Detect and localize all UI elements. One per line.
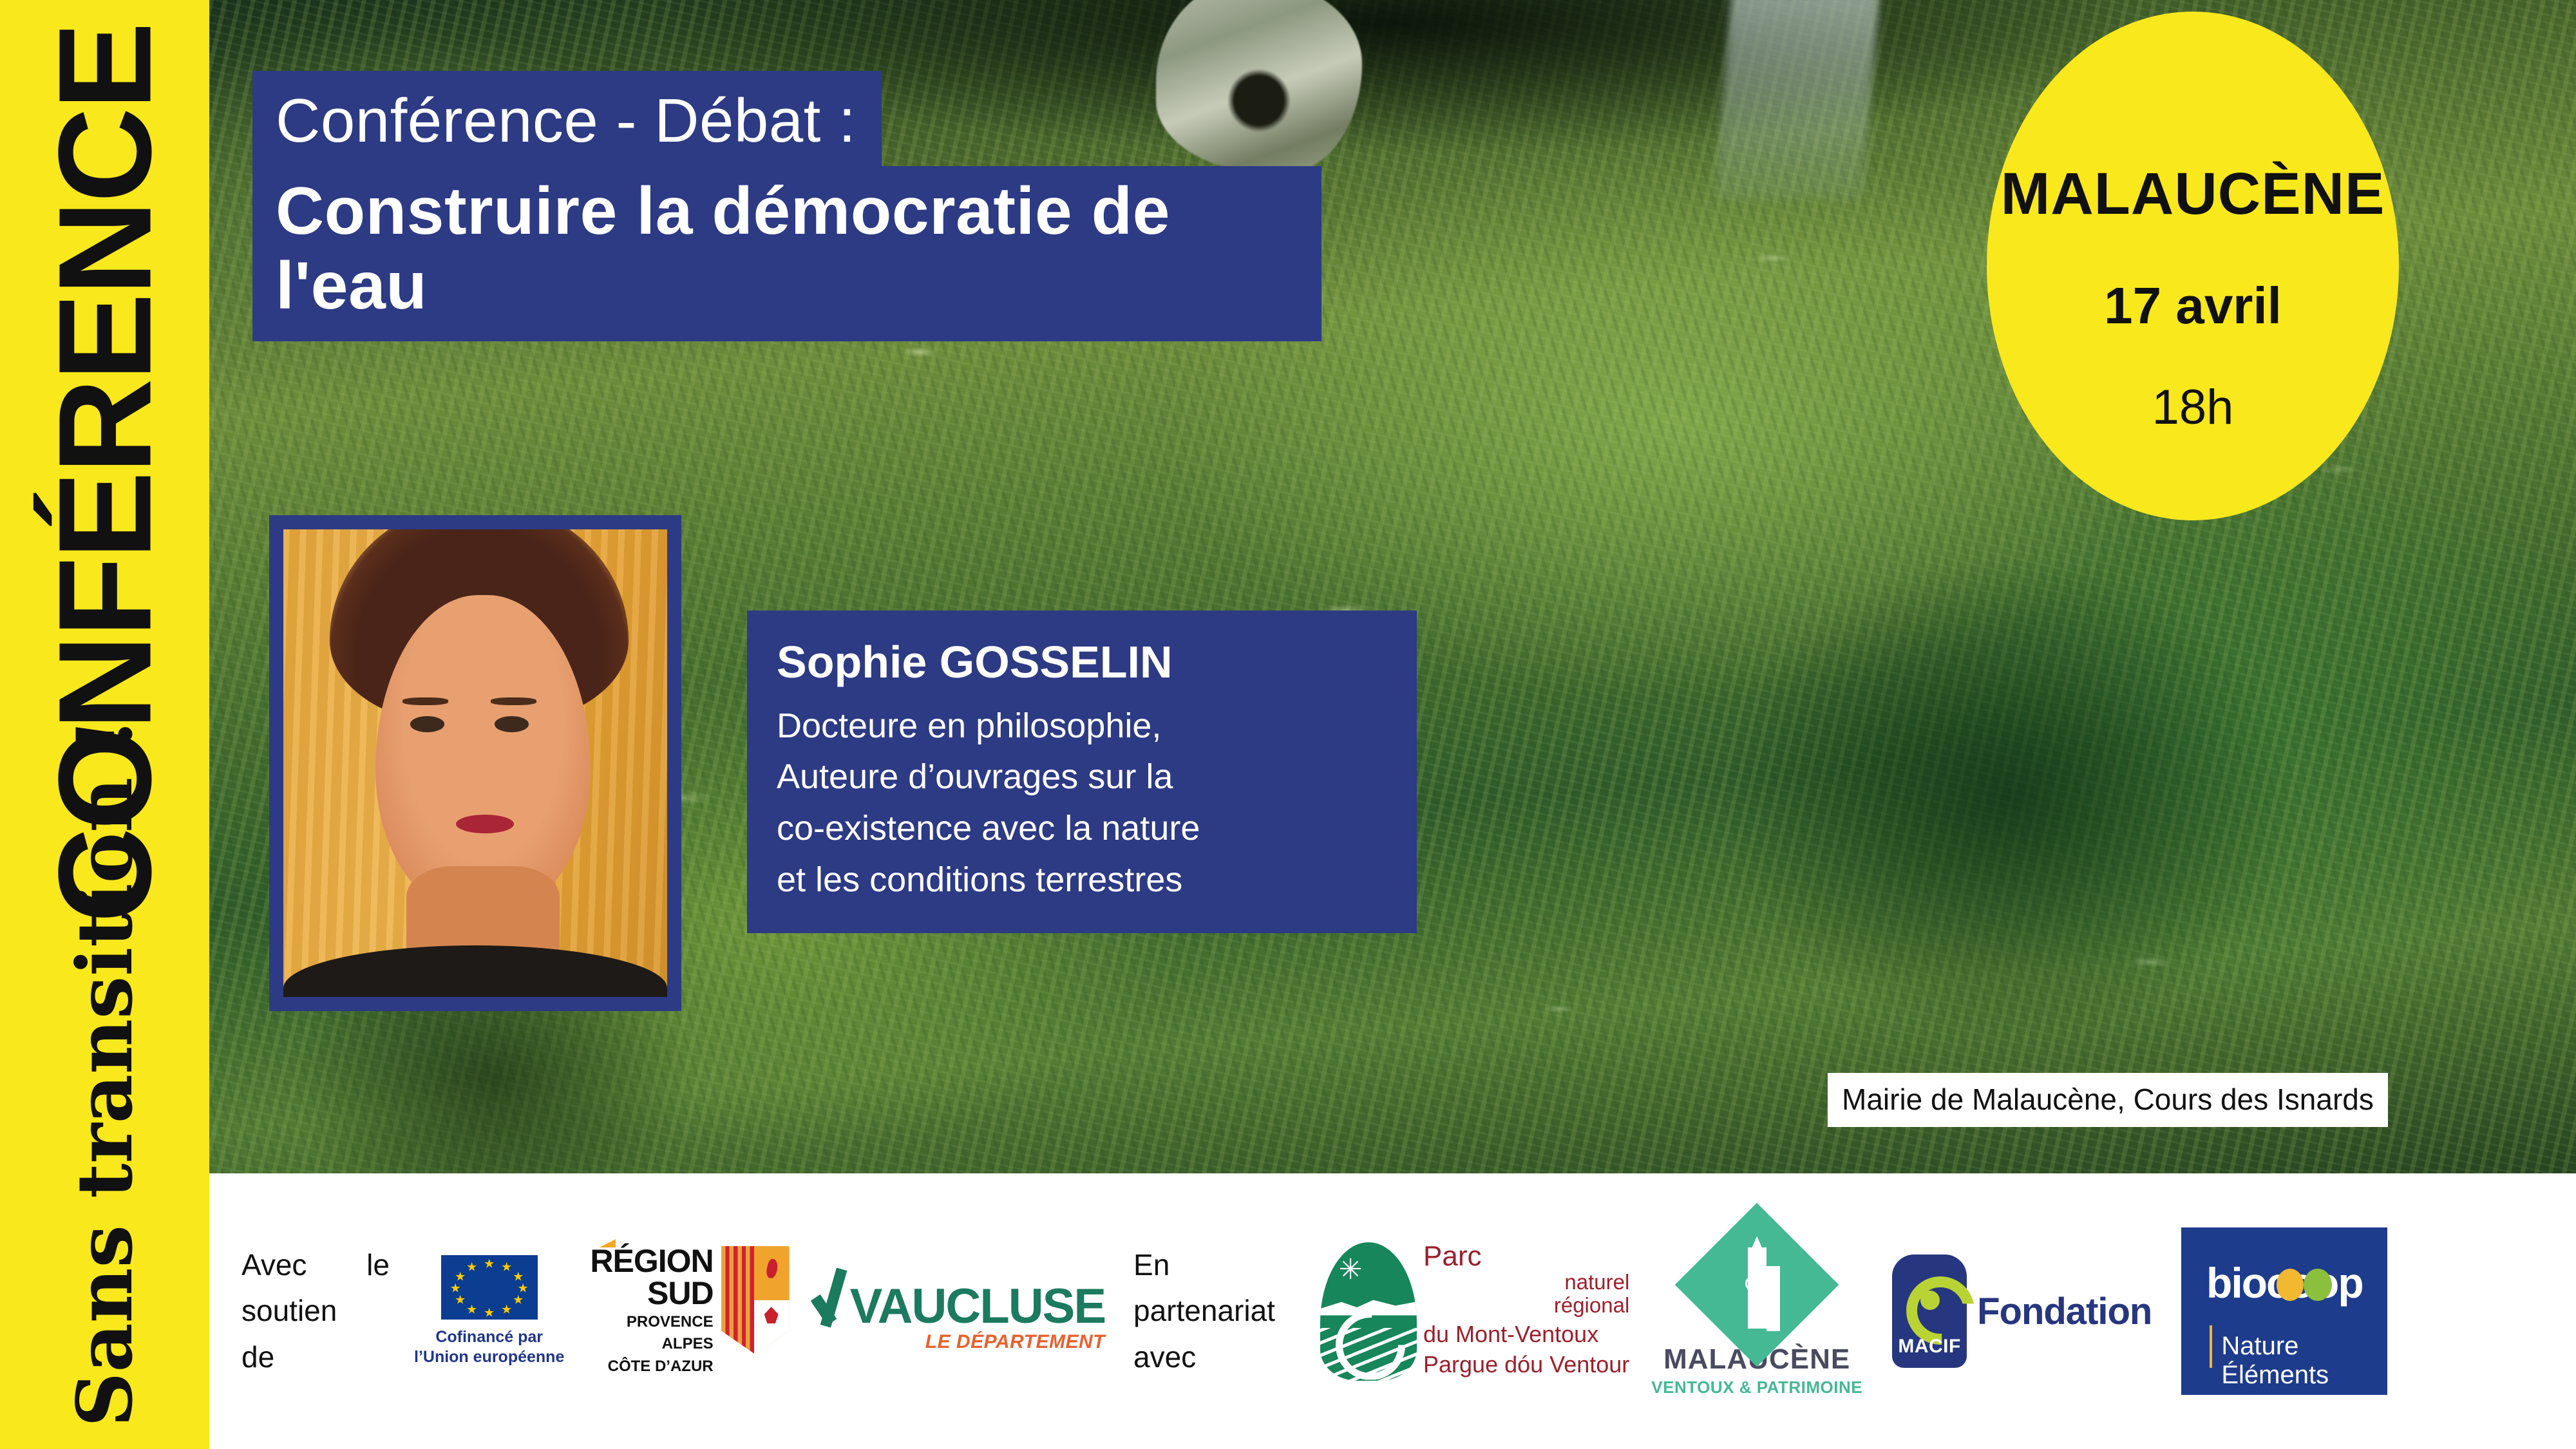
pnr-line-1: Parc [1423, 1242, 1629, 1271]
support-label-line-1: Avec le [241, 1242, 390, 1288]
portrait-eye-left [410, 716, 445, 732]
malaucene-subtitle: VENTOUX & PATRIMOINE [1651, 1379, 1862, 1396]
pnr-emblem-icon: ✳ [1320, 1242, 1417, 1381]
macif-shield-word: MACIF [1892, 1336, 1967, 1358]
logo-european-union: ★ ★ ★ ★ ★ ★ ★ ★ ★ ★ ★ ★ Cofinancé par l’… [414, 1255, 564, 1368]
region-sud-line-4: ALPES [590, 1335, 713, 1354]
title-block: Conférence - Débat : Construire la démoc… [252, 71, 1321, 341]
speaker-last-name: GOSSELIN [940, 637, 1173, 687]
portrait-brow-right [491, 697, 537, 705]
macif-fondation-word: Fondation [1977, 1290, 2152, 1333]
support-label-line-3: de [241, 1334, 390, 1380]
speaker-portrait-image [283, 529, 667, 997]
speaker-bio-line-1: Docteure en philosophie, [777, 701, 1387, 752]
venue-address: Mairie de Malaucène, Cours des Isnards [1828, 1073, 2388, 1127]
eu-caption-line-2: l’Union européenne [414, 1347, 564, 1367]
speaker-portrait-frame [269, 515, 681, 1011]
biocoop-store-name: Nature Éléments [2221, 1332, 2387, 1390]
speaker-name: Sophie GOSSELIN [777, 639, 1387, 687]
portrait-eye-right [495, 716, 529, 732]
macif-shield-icon: MACIF [1892, 1255, 1967, 1368]
biocoop-panel: biocoop Nature Éléments [2181, 1227, 2387, 1395]
sponsor-footer: Avec le soutien de ★ ★ ★ ★ ★ ★ ★ ★ ★ ★ ★ [209, 1173, 2576, 1449]
macif-c-icon [1906, 1276, 1975, 1345]
region-sud-shield-icon [721, 1246, 790, 1354]
title-headline: Construire la démocratie de l'eau [252, 166, 1321, 342]
partner-label-line-1: En [1133, 1242, 1294, 1288]
malaucene-diamond-icon [1699, 1227, 1815, 1343]
eu-caption: Cofinancé par l’Union européenne [414, 1327, 564, 1368]
speaker-bio-block: Sophie GOSSELIN Docteure en philosophie,… [747, 611, 1417, 933]
vaucluse-subtitle: LE DÉPARTEMENT [815, 1331, 1105, 1353]
pnr-line-5: Pargue dóu Ventour [1423, 1352, 1629, 1378]
pnr-line-4: du Mont-Ventoux [1423, 1321, 1629, 1347]
support-label: Avec le soutien de [241, 1242, 390, 1380]
logo-region-sud: RÉGION SUD PROVENCE ALPES CÔTE D’AZUR [590, 1246, 789, 1376]
photo-credit: Crédit photo : Ville de Malaucène [2571, 0, 2576, 26]
partner-label: En partenariat avec [1133, 1242, 1294, 1380]
logo-parc-naturel-regional: ✳ Parc naturel régional du Mont-Ventoux … [1320, 1242, 1629, 1381]
logo-malaucene-ville: MALAUCÈNE VENTOUX & PATRIMOINE [1651, 1227, 1862, 1396]
event-poster: CONFÉRENCE Sans transition ! Conférence … [0, 0, 2576, 1449]
region-sud-text: RÉGION SUD PROVENCE ALPES CÔTE D’AZUR [590, 1246, 713, 1376]
support-label-line-2: soutien [241, 1288, 390, 1334]
vaucluse-check-icon [815, 1269, 855, 1329]
portrait-lips [456, 815, 513, 833]
speaker-bio-line-2: Auteure d’ouvrages sur la [777, 752, 1387, 803]
photo-waterfall [1714, 0, 1880, 200]
malaucene-clock-icon [1745, 1276, 1761, 1291]
eu-flag-icon: ★ ★ ★ ★ ★ ★ ★ ★ ★ ★ ★ ★ [441, 1255, 538, 1320]
pnr-line-3: régional [1423, 1294, 1629, 1318]
pnr-text: Parc naturel régional du Mont-Ventoux Pa… [1423, 1242, 1629, 1378]
biocoop-divider [2210, 1325, 2212, 1368]
left-yellow-rail: CONFÉRENCE Sans transition ! [0, 0, 209, 1449]
speaker-bio-line-3: co-existence avec la nature [777, 803, 1387, 855]
pnr-sun-icon: ✳ [1337, 1256, 1364, 1283]
region-sud-line-2: SUD [590, 1277, 713, 1309]
portrait-brow-left [402, 697, 449, 705]
title-kicker: Conférence - Débat : [252, 71, 882, 169]
speaker-first-name: Sophie [777, 637, 940, 687]
malaucene-church-icon [1766, 1266, 1781, 1331]
region-sud-line-5: CÔTE D’AZUR [590, 1358, 713, 1376]
logo-biocoop: biocoop Nature Éléments [2152, 1227, 2387, 1395]
macif-dot-icon [1920, 1291, 1940, 1310]
pnr-line-2: naturel [1423, 1271, 1629, 1294]
badge-date-label: 17 avril [2104, 280, 2282, 332]
badge-city-label: MALAUCÈNE [2001, 164, 2385, 223]
badge-time-label: 18h [2152, 383, 2234, 432]
partner-label-line-3: avec [1133, 1334, 1294, 1380]
speaker-bio-line-4: et les conditions terrestres [777, 855, 1387, 906]
logo-vaucluse: VAUCLUSE LE DÉPARTEMENT [815, 1269, 1105, 1353]
region-sud-line-1: RÉGION [590, 1246, 713, 1277]
vaucluse-name: VAUCLUSE [850, 1285, 1105, 1329]
date-badge: MALAUCÈNE 17 avril 18h [1987, 12, 2399, 520]
portrait-face [375, 595, 591, 913]
region-sud-line-3: PROVENCE [590, 1313, 713, 1332]
eu-caption-line-1: Cofinancé par [414, 1327, 564, 1347]
partner-label-line-2: partenariat [1133, 1288, 1294, 1334]
vaucluse-wordmark-row: VAUCLUSE [815, 1269, 1105, 1329]
logo-fondation-macif: MACIF Fondation [1892, 1255, 2152, 1368]
rail-tagline: Sans transition ! [67, 717, 143, 1427]
pnr-fields-icon [1320, 1328, 1417, 1381]
